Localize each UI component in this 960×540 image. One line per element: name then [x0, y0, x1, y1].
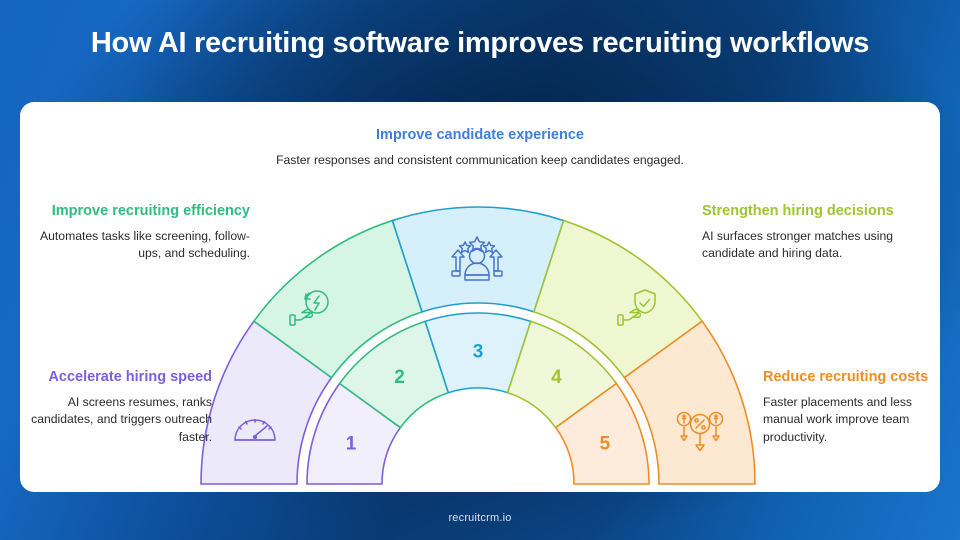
callout-heading: Accelerate hiring speed [22, 368, 212, 387]
callout-improve-recruiting-efficiency: Improve recruiting efficiency Automates … [22, 202, 250, 263]
footer-brand: recruitcrm.io [0, 512, 960, 524]
callout-accelerate-hiring-speed: Accelerate hiring speed AI screens resum… [22, 368, 212, 446]
callout-heading: Reduce recruiting costs [763, 368, 943, 387]
callout-strengthen-hiring-decisions: Strengthen hiring decisions AI surfaces … [702, 202, 902, 263]
page-title: How AI recruiting software improves recr… [0, 26, 960, 61]
callout-heading: Improve recruiting efficiency [22, 202, 250, 221]
callout-body: Faster placements and less manual work i… [763, 394, 943, 446]
callout-body: Automates tasks like screening, follow-u… [22, 228, 250, 263]
callout-body: Faster responses and consistent communic… [275, 152, 685, 169]
infographic-canvas: How AI recruiting software improves recr… [0, 0, 960, 540]
callout-body: AI screens resumes, ranks candidates, an… [22, 394, 212, 446]
arc-outer-segment-3[interactable] [392, 207, 563, 312]
callout-reduce-recruiting-costs: Reduce recruiting costs Faster placement… [763, 368, 943, 446]
callout-heading: Strengthen hiring decisions [702, 202, 902, 221]
callout-body: AI surfaces stronger matches using candi… [702, 228, 902, 263]
callout-heading: Improve candidate experience [275, 126, 685, 145]
callout-improve-candidate-experience: Improve candidate experience Faster resp… [275, 126, 685, 169]
